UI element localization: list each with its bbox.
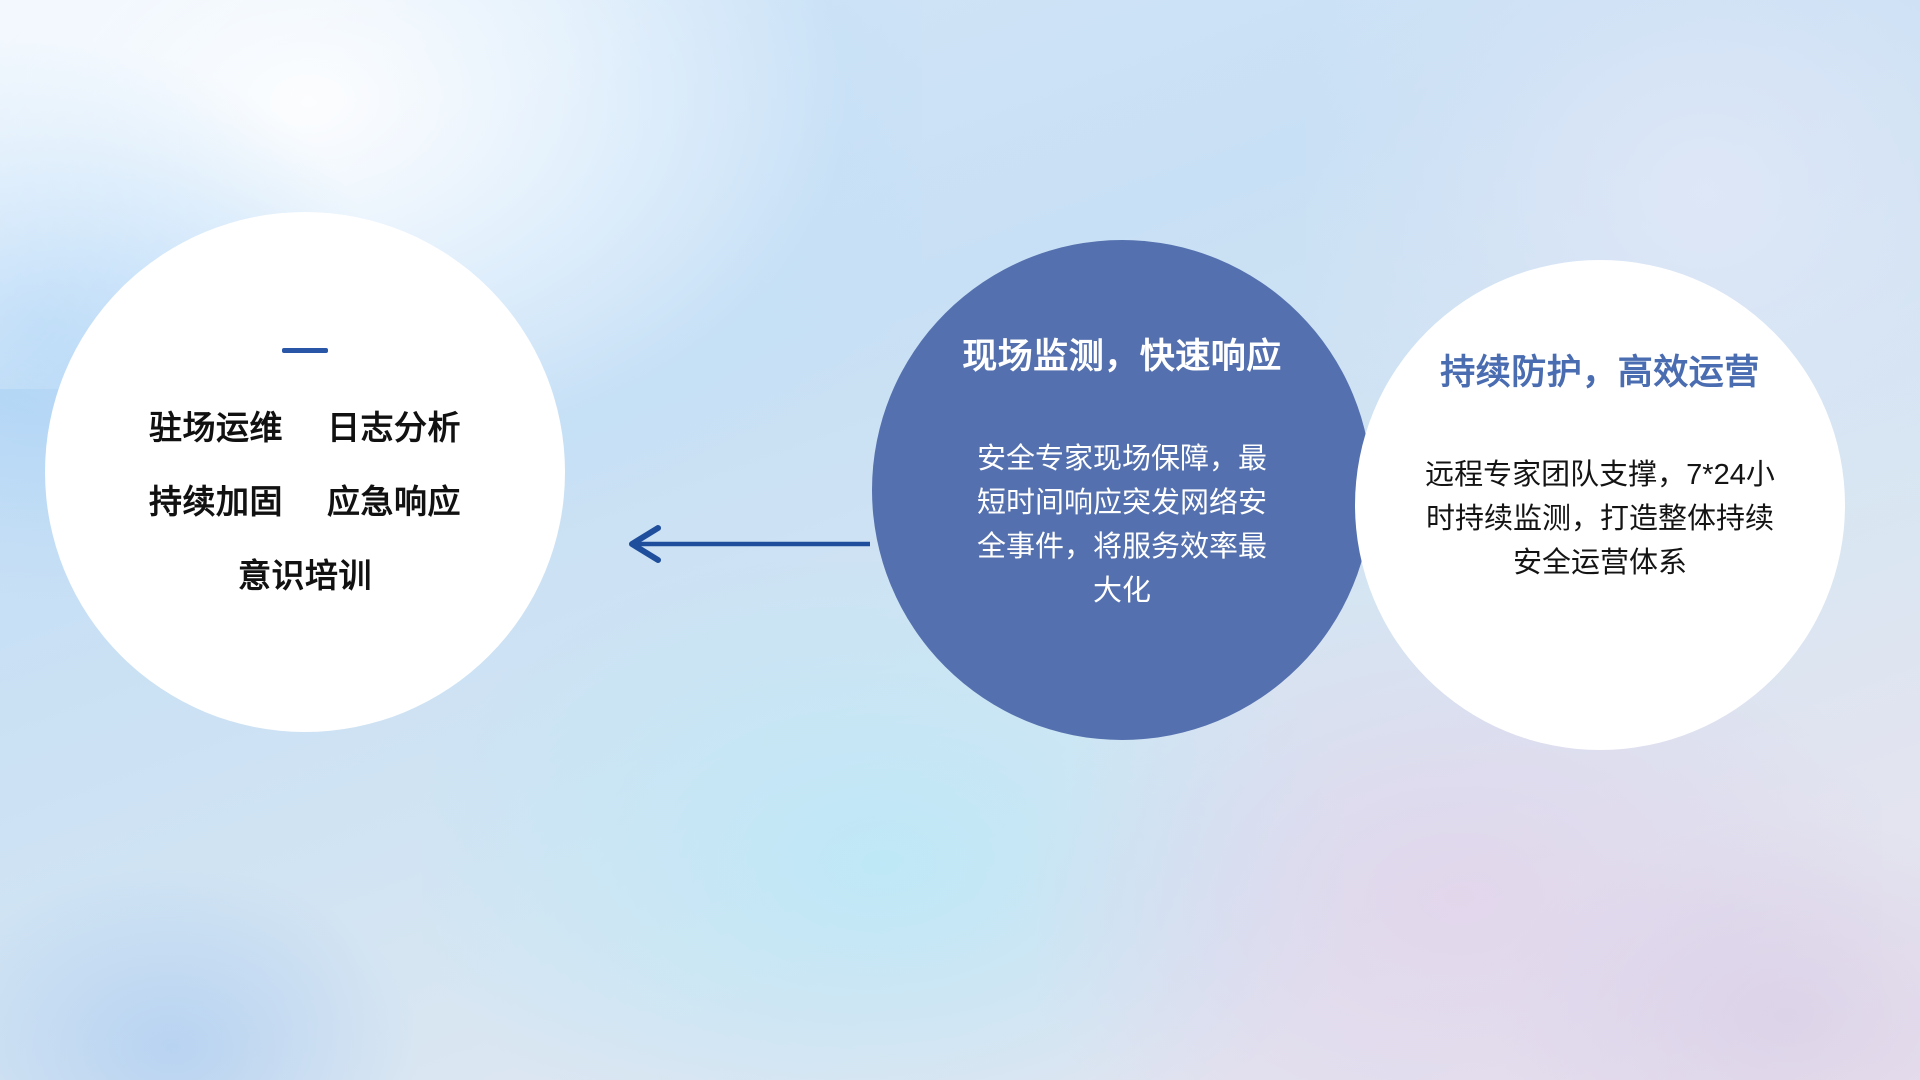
- arrow-left-icon: [612, 524, 872, 564]
- capability-tag[interactable]: 应急响应: [327, 475, 461, 523]
- capability-tag[interactable]: 驻场运维: [149, 401, 283, 449]
- capability-tag[interactable]: 持续加固: [149, 475, 283, 523]
- connector-arrow: [612, 524, 872, 564]
- diagram-stage: 驻场运维 日志分析 持续加固 应急响应 意识培训 现场监测，快速响应 安全专家现…: [0, 0, 1920, 1080]
- capability-circle-left[interactable]: 驻场运维 日志分析 持续加固 应急响应 意识培训: [45, 212, 565, 732]
- service-heading: 持续防护，高效运营: [1440, 344, 1760, 395]
- service-circle-onsite[interactable]: 现场监测，快速响应 安全专家现场保障，最短时间响应突发网络安全事件，将服务效率最…: [872, 240, 1372, 740]
- capability-tag-list: 驻场运维 日志分析 持续加固 应急响应 意识培训: [149, 401, 461, 597]
- service-circle-remote[interactable]: 持续防护，高效运营 远程专家团队支撑，7*24小时持续监测，打造整体持续安全运营…: [1355, 260, 1845, 750]
- capability-tag-row: 持续加固 应急响应: [149, 475, 461, 523]
- capability-tag[interactable]: 意识培训: [238, 549, 372, 597]
- service-circle-content: 现场监测，快速响应 安全专家现场保障，最短时间响应突发网络安全事件，将服务效率最…: [872, 240, 1372, 613]
- divider-dash-icon: [282, 348, 328, 353]
- service-circle-content: 持续防护，高效运营 远程专家团队支撑，7*24小时持续监测，打造整体持续安全运营…: [1355, 260, 1845, 585]
- service-description: 安全专家现场保障，最短时间响应突发网络安全事件，将服务效率最大化: [972, 437, 1272, 613]
- capability-tag-row: 驻场运维 日志分析: [149, 401, 461, 449]
- service-heading: 现场监测，快速响应: [962, 328, 1282, 379]
- service-description: 远程专家团队支撑，7*24小时持续监测，打造整体持续安全运营体系: [1425, 453, 1775, 585]
- capability-tag-row: 意识培训: [238, 549, 372, 597]
- capability-tag[interactable]: 日志分析: [327, 401, 461, 449]
